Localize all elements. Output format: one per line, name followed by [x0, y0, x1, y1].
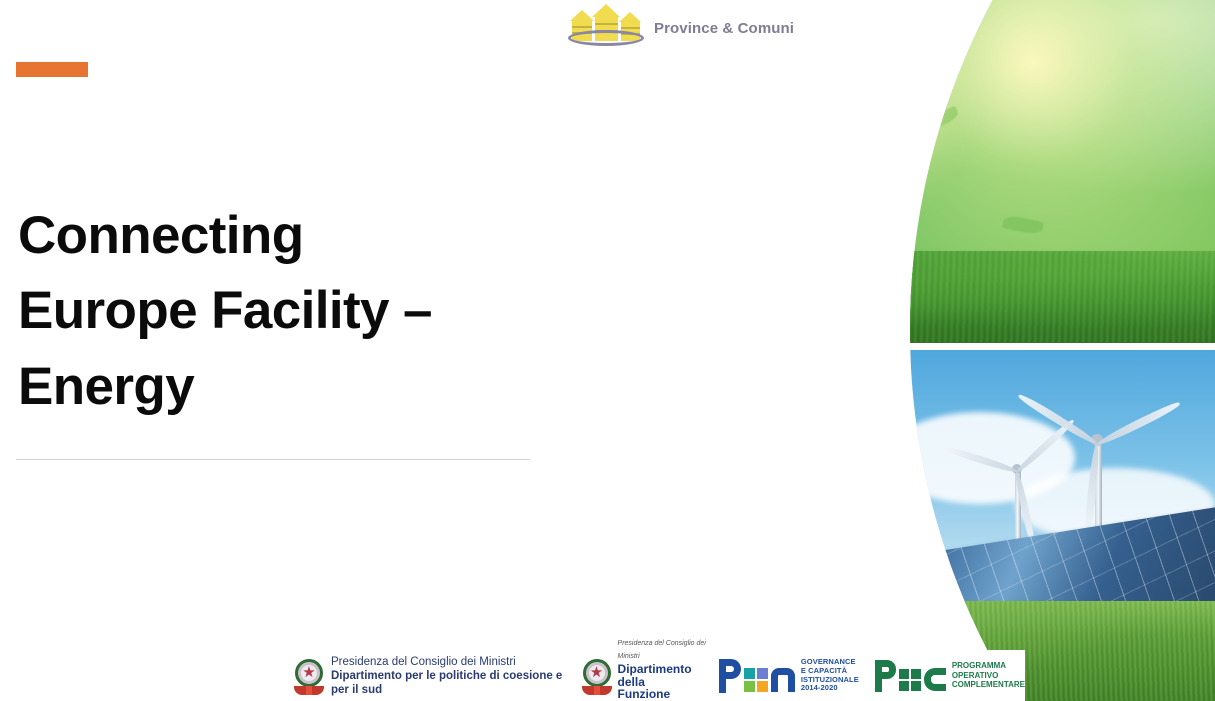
province-comuni-badge: Province & Comuni	[568, 6, 808, 50]
wind-solar-farm-photo	[455, 350, 1215, 701]
leaf-sprout-icon	[650, 56, 682, 77]
wind-turbine-icon	[850, 350, 870, 664]
title-divider	[16, 459, 530, 460]
pon-caption-4: 2014-2020	[801, 684, 859, 693]
logo-line-2: Funzione Pubblica	[618, 688, 707, 701]
green-lightbulb-photo	[455, 0, 1215, 343]
title-line-3: Energy	[18, 357, 194, 416]
logo-line-1: Presidenza del Consiglio dei Ministri	[331, 655, 567, 669]
poc-caption-3: COMPLEMENTARE	[952, 680, 1025, 690]
leaf-sprout-icon	[1002, 214, 1044, 236]
leaf-sprout-icon	[575, 225, 602, 238]
province-comuni-label: Province & Comuni	[654, 20, 794, 37]
poc-wordmark-icon	[875, 660, 946, 692]
logo-line-2: Dipartimento per le politiche di coesion…	[331, 669, 567, 697]
logo-line-1: Dipartimento della	[618, 663, 707, 688]
logo-small-line: Presidenza del Consiglio dei Ministri	[618, 638, 707, 663]
leaf-sprout-icon	[506, 114, 554, 138]
title-line-2: Europe Facility –	[18, 281, 432, 340]
province-comuni-logo-icon	[568, 8, 644, 48]
page-title: Connecting Europe Facility – Energy	[18, 198, 538, 424]
logo-poc-complementare: PROGRAMMA OPERATIVO COMPLEMENTARE	[875, 660, 1025, 692]
poc-caption-2: OPERATIVO	[952, 671, 1025, 681]
hero-image-group	[455, 0, 1215, 701]
title-line-1: Connecting	[18, 206, 303, 265]
moss-ground	[455, 251, 1215, 343]
logo-funzione-pubblica: ★ Presidenza del Consiglio dei Ministri …	[581, 638, 707, 701]
poc-caption-1: PROGRAMMA	[952, 661, 1025, 671]
italian-republic-emblem-icon: ★	[581, 657, 613, 695]
slide-canvas: Province & Comuni Connecting Europe Faci…	[0, 0, 1215, 701]
footer-logo-strip: ★ Presidenza del Consiglio dei Ministri …	[285, 650, 1025, 701]
accent-bar	[16, 62, 88, 77]
logo-pon-governance: GOVERNANCE E CAPACITÀ ISTITUZIONALE 2014…	[719, 658, 859, 692]
pon-wordmark-icon	[719, 659, 795, 693]
italian-republic-emblem-icon: ★	[293, 657, 325, 695]
logo-presidenza-coesione: ★ Presidenza del Consiglio dei Ministri …	[293, 655, 567, 697]
